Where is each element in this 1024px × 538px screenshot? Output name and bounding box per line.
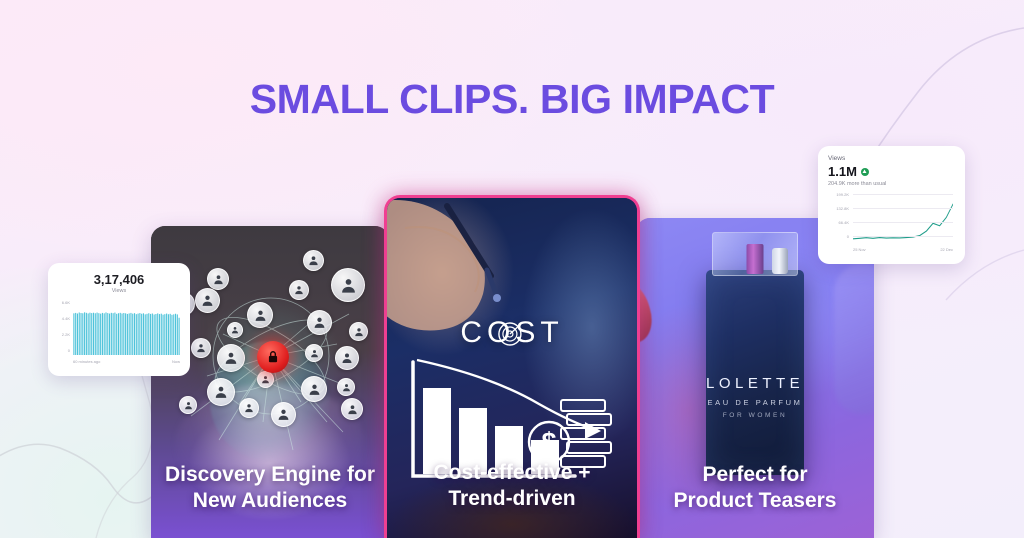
card-center-caption: Cost-effective + Trend-driven — [387, 460, 637, 512]
card-cost-effective[interactable]: COST — [384, 195, 640, 538]
views-trend-widget[interactable]: Views 1.1M 204.9K more than usual 199.2K… — [818, 146, 965, 264]
avatar-node — [349, 322, 368, 341]
avatar-node — [239, 398, 259, 418]
y-tick: 2.2K — [62, 332, 70, 337]
caption-line-1: Cost-effective + — [387, 460, 637, 486]
widget-value-row: 1.1M — [828, 164, 955, 179]
left-chart: 6.6K 4.4K 2.2K 0 60 minutes ago Now — [56, 300, 182, 364]
views-label: Views — [56, 288, 182, 294]
target-bullseye-icon — [497, 321, 523, 347]
trend-up-badge-icon — [861, 168, 869, 176]
avatar-node — [191, 338, 211, 358]
avatar-node — [307, 310, 332, 335]
avatar-node — [257, 371, 274, 388]
avatar-node — [305, 344, 323, 362]
right-chart-y-axis: 199.2K 132.8K 66.4K 0 — [828, 192, 850, 252]
avatar-node — [207, 378, 235, 406]
views-bar-widget[interactable]: 3,17,406 Views 6.6K 4.4K 2.2K 0 60 minut… — [48, 263, 190, 376]
caption-line-2: Product Teasers — [636, 488, 874, 514]
avatar-node — [303, 250, 324, 271]
product-tagline: FOR WOMEN — [706, 412, 804, 419]
x-tick-start: 60 minutes ago — [73, 359, 100, 364]
x-tick-start: 25 Nov — [853, 247, 866, 252]
card-right-caption: Perfect for Product Teasers — [636, 462, 874, 514]
y-tick: 132.8K — [836, 206, 849, 211]
avatar-node — [227, 322, 243, 338]
y-tick: 0 — [847, 234, 849, 239]
avatar-node — [289, 280, 309, 300]
product-name: LOLETTE — [706, 375, 804, 392]
card-product-teasers[interactable]: LOLETTE EAU DE PARFUM FOR WOMEN Perfect … — [636, 218, 874, 538]
avatar-node — [207, 268, 229, 290]
y-tick: 4.4K — [62, 316, 70, 321]
views-delta-note: 204.9K more than usual — [828, 181, 955, 187]
views-count: 3,17,406 — [56, 272, 182, 287]
product-subtitle: EAU DE PARFUM — [706, 398, 804, 407]
fingers-blur — [834, 264, 874, 414]
widget-title: Views — [828, 155, 955, 162]
svg-text:$: $ — [541, 427, 556, 457]
page-title: SMALL CLIPS. BIG IMPACT — [0, 76, 1024, 123]
avatar-node — [331, 268, 365, 302]
avatar-node — [341, 398, 363, 420]
avatar-node — [247, 302, 273, 328]
bottle-neck — [747, 244, 764, 274]
x-tick-end: 22 Dec — [940, 247, 953, 252]
lock-icon — [257, 341, 289, 373]
y-tick: 66.4K — [839, 220, 849, 225]
poster-canvas: SMALL CLIPS. BIG IMPACT — [0, 0, 1024, 538]
avatar-node — [271, 402, 296, 427]
avatar-node — [301, 376, 327, 402]
y-tick: 6.6K — [62, 300, 70, 305]
left-chart-y-axis: 6.6K 4.4K 2.2K 0 — [56, 300, 71, 364]
avatar-node — [337, 378, 355, 396]
avatar-node — [179, 396, 197, 414]
left-chart-plot — [73, 300, 180, 355]
x-tick-end: Now — [172, 359, 180, 364]
right-chart: 199.2K 132.8K 66.4K 0 25 Nov 22 Dec — [828, 192, 955, 252]
y-tick: 199.2K — [836, 192, 849, 197]
left-chart-x-axis: 60 minutes ago Now — [73, 359, 180, 364]
caption-line-2: New Audiences — [151, 488, 389, 514]
cost-word: COST — [387, 316, 637, 352]
caption-line-1: Perfect for — [636, 462, 874, 488]
avatar-node — [195, 288, 220, 313]
card-left-caption: Discovery Engine for New Audiences — [151, 462, 389, 514]
right-chart-x-axis: 25 Nov 22 Dec — [853, 247, 953, 252]
caption-line-1: Discovery Engine for — [151, 462, 389, 488]
right-chart-plot — [853, 192, 953, 241]
perfume-bottle: LOLETTE EAU DE PARFUM FOR WOMEN — [706, 270, 804, 475]
bottle-sprayer — [772, 248, 788, 274]
views-value: 1.1M — [828, 164, 857, 179]
caption-line-2: Trend-driven — [387, 486, 637, 512]
avatar-node — [217, 344, 245, 372]
y-tick: 0 — [68, 348, 70, 353]
avatar-node — [335, 346, 359, 370]
